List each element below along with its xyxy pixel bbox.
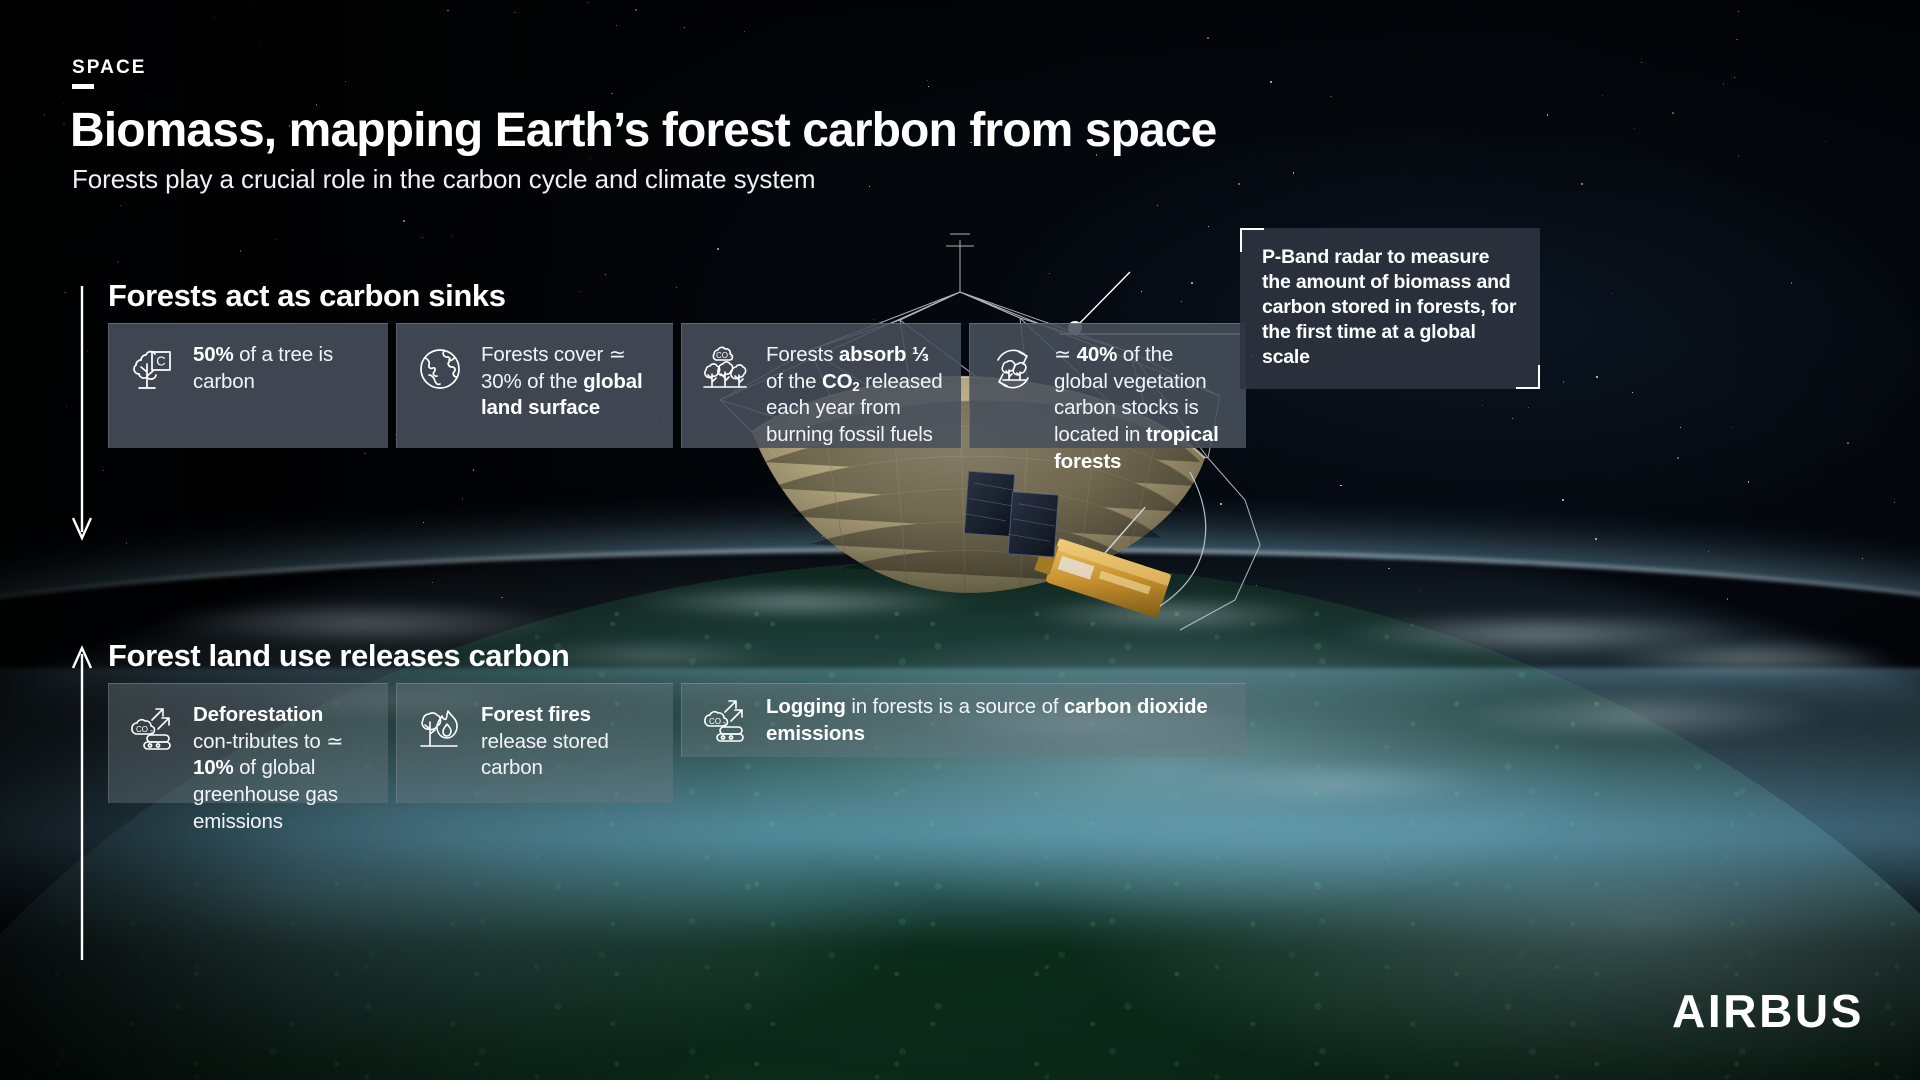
- forest-fire-icon: [413, 702, 467, 756]
- card-deforestation: CO 2 Deforestation con‑tributes to ≃ 10%…: [108, 683, 388, 803]
- card-text: Deforestation con‑tributes to ≃ 10% of g…: [193, 702, 372, 835]
- card-logging: CO 2 Logging in forests is a source of c…: [681, 683, 1246, 757]
- card-global-land-surface: Forests cover ≃ 30% of the global land s…: [396, 323, 673, 448]
- deforestation-icon: CO 2: [125, 702, 179, 756]
- section-land-use-releases: Forest land use releases carbon CO 2: [72, 638, 1246, 803]
- svg-text:2: 2: [730, 356, 733, 362]
- card-text: ≃ 40% of the global vegetation carbon st…: [1054, 342, 1230, 475]
- arrow-down-icon: [72, 286, 106, 546]
- card-text: Logging in forests is a source of carbon…: [766, 694, 1230, 747]
- section-carbon-sinks: Forests act as carbon sinks: [72, 278, 1246, 448]
- logging-icon: CO 2: [698, 694, 752, 748]
- svg-text:CO: CO: [716, 351, 728, 360]
- eyebrow-rule: [72, 84, 94, 89]
- svg-text:CO: CO: [136, 725, 148, 734]
- globe-icon: [413, 342, 467, 396]
- card-text: Forests absorb ⅓ of the CO2 released eac…: [766, 342, 945, 449]
- card-text: 50% of a tree is carbon: [193, 342, 372, 395]
- eyebrow-label: SPACE: [72, 57, 147, 79]
- airbus-logo: AIRBUS: [1672, 984, 1864, 1038]
- tree-carbon-icon: C: [125, 342, 179, 396]
- svg-text:CO: CO: [709, 717, 721, 726]
- infographic-stage: SPACE Biomass, mapping Earth’s forest ca…: [0, 0, 1920, 1080]
- card-forests-absorb-co2: CO 2 Forests absorb ⅓ of the CO2 release…: [681, 323, 961, 448]
- section-title-land-use: Forest land use releases carbon: [108, 638, 1246, 674]
- svg-text:C: C: [156, 354, 165, 369]
- card-grid-carbon-sinks: C 50% of a tree is carbon: [108, 323, 1246, 448]
- carbon-cycle-icon: [986, 342, 1040, 396]
- page-title: Biomass, mapping Earth’s forest carbon f…: [70, 103, 1216, 158]
- card-tree-carbon: C 50% of a tree is carbon: [108, 323, 388, 448]
- callout-corner-bottom-right: [1516, 365, 1540, 389]
- card-grid-land-use: CO 2 Deforestation con‑tributes to ≃ 10%…: [108, 683, 1246, 803]
- callout-box: P-Band radar to measure the amount of bi…: [1240, 228, 1540, 389]
- callout-corner-top-left: [1240, 228, 1264, 252]
- arrow-up-icon: [72, 642, 106, 962]
- page-subtitle: Forests play a crucial role in the carbo…: [72, 164, 815, 195]
- forest-co2-icon: CO 2: [698, 342, 752, 396]
- card-text: Forest fires release stored carbon: [481, 702, 657, 782]
- section-title-carbon-sinks: Forests act as carbon sinks: [108, 278, 1246, 314]
- card-tropical-forests: ≃ 40% of the global vegetation carbon st…: [969, 323, 1246, 448]
- card-forest-fires: Forest fires release stored carbon: [396, 683, 673, 803]
- callout-text: P-Band radar to measure the amount of bi…: [1262, 246, 1516, 368]
- card-text: Forests cover ≃ 30% of the global land s…: [481, 342, 657, 422]
- content-layer: SPACE Biomass, mapping Earth’s forest ca…: [0, 0, 1920, 1080]
